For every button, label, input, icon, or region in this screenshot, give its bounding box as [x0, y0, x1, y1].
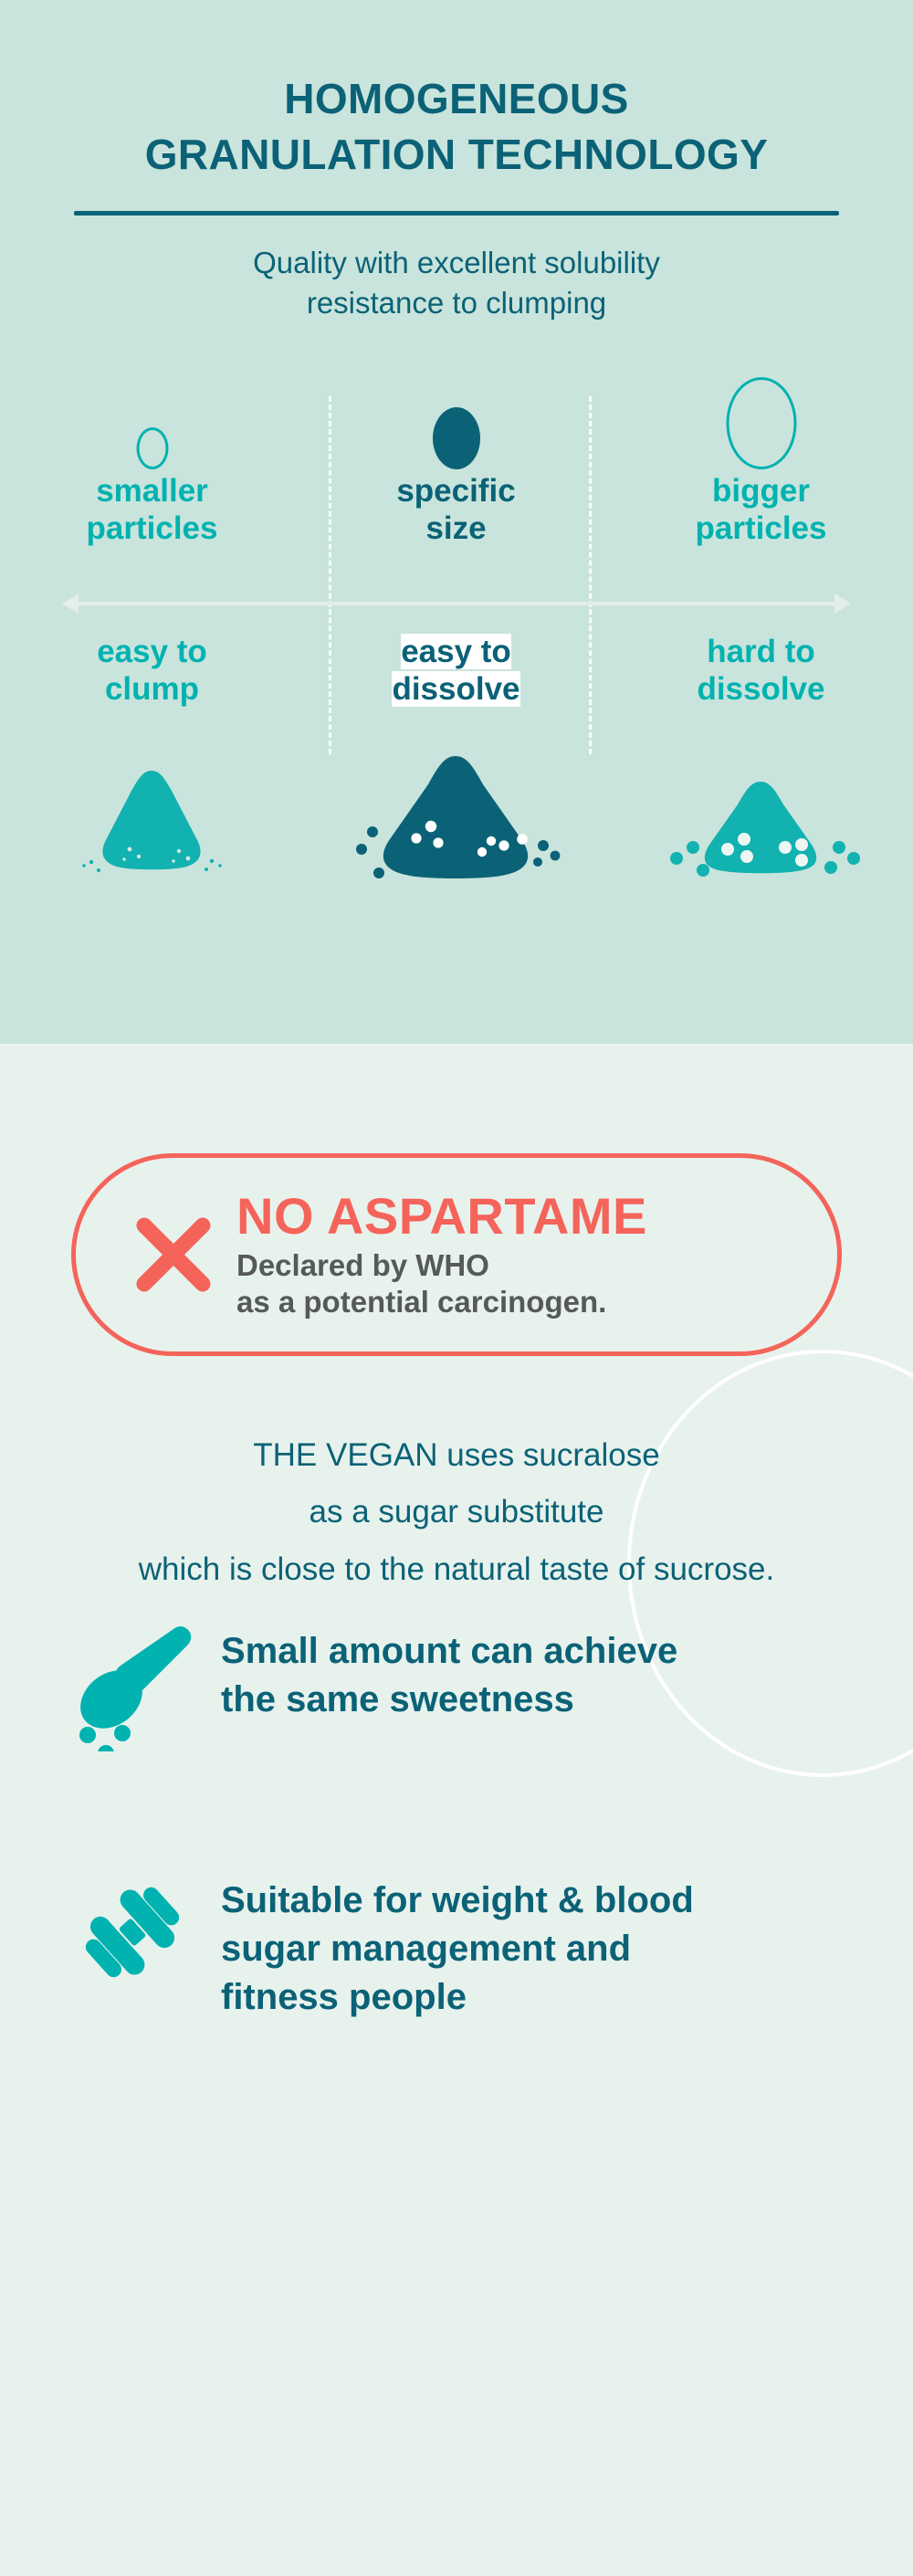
behaviour-line-1: easy to [401, 634, 511, 669]
arrow-shaft [75, 602, 838, 605]
sucralose-note-line-2: as a sugar substitute [0, 1484, 913, 1540]
page-title-line-1: HOMOGENEOUS [0, 71, 913, 127]
comparison-column-smaller: smaller particles [0, 371, 304, 547]
feature-text-line-2: sugar management and [221, 1925, 694, 1973]
feature-text-fitness: Suitable for weight & blood sugar manage… [201, 1864, 694, 2023]
subtitle-line-2: resistance to clumping [0, 283, 913, 323]
behaviour-line-1: easy to [0, 634, 304, 671]
particle-icon-slot [0, 371, 304, 473]
size-label-bigger: bigger particles [609, 473, 913, 547]
infographic-page: HOMOGENEOUS GRANULATION TECHNOLOGY Quali… [0, 0, 913, 2576]
behaviour-label-hard-dissolve: hard to dissolve [609, 634, 913, 708]
sucralose-note-line-1: THE VEGAN uses sucralose [0, 1427, 913, 1484]
badge-subtext-line-2: as a potential carcinogen. [236, 1284, 647, 1320]
subtitle-block: Quality with excellent solubility resist… [0, 243, 913, 323]
size-label-smaller: smaller particles [0, 473, 304, 547]
size-label-line-1: bigger [609, 473, 913, 510]
behaviour-label-clump: easy to clump [0, 634, 304, 708]
arrow-head-right [834, 594, 851, 614]
dumbbell-icon [64, 1864, 201, 2001]
badge-subtext-line-1: Declared by WHO [236, 1247, 647, 1284]
feature-item-sweetness: Small amount can achieve the same sweetn… [64, 1614, 867, 1751]
double-headed-arrow-icon [62, 588, 851, 619]
no-aspartame-badge: NO ASPARTAME Declared by WHO as a potent… [71, 1153, 842, 1356]
behaviour-line-2: dissolve [392, 671, 519, 707]
small-outline-ellipse-icon [136, 427, 168, 469]
subtitle-line-1: Quality with excellent solubility [0, 243, 913, 283]
spoon-with-granules-icon [64, 1614, 201, 1751]
feature-text-line-3: fitness people [221, 1973, 694, 2022]
feature-text-sweetness: Small amount can achieve the same sweetn… [201, 1614, 677, 1724]
behaviour-label-easy-dissolve: easy to dissolve [304, 634, 608, 708]
size-label-line-1: specific [304, 473, 608, 510]
sucralose-note-line-3: which is close to the natural taste of s… [0, 1541, 913, 1598]
feature-item-fitness: Suitable for weight & blood sugar manage… [64, 1864, 867, 2023]
cross-mark-icon [123, 1213, 224, 1297]
size-label-specific: specific size [304, 473, 608, 547]
comparison-column-bigger: bigger particles [609, 371, 913, 547]
size-label-line-2: particles [609, 510, 913, 548]
feature-text-line-1: Suitable for weight & blood [221, 1877, 694, 1925]
size-label-line-2: particles [0, 510, 304, 548]
size-label-line-2: size [304, 510, 608, 548]
large-outline-ellipse-icon [726, 377, 796, 469]
title-underline-rule [74, 211, 839, 216]
particle-icon-slot [609, 371, 913, 473]
powder-pile-small-icon [0, 754, 304, 882]
badge-text-block: NO ASPARTAME Declared by WHO as a potent… [224, 1189, 647, 1321]
behaviour-line-1: hard to [609, 634, 913, 671]
comparison-column-specific: specific size [304, 371, 608, 547]
feature-text-line-1: Small amount can achieve [221, 1627, 677, 1676]
particle-size-comparison: smaller particles specific size [0, 371, 913, 882]
badge-subtext: Declared by WHO as a potential carcinoge… [236, 1247, 647, 1321]
badge-title: NO ASPARTAME [236, 1189, 647, 1244]
feature-text-line-2: the same sweetness [221, 1676, 677, 1724]
powder-pile-coarse-icon [609, 754, 913, 882]
powder-pile-large-icon [304, 754, 608, 882]
particle-icon-slot [304, 371, 608, 473]
page-title-line-2: GRANULATION TECHNOLOGY [0, 127, 913, 183]
powder-pile-row [0, 754, 913, 882]
behaviour-line-2: clump [0, 671, 304, 709]
behaviour-line-2: dissolve [609, 671, 913, 709]
header-block: HOMOGENEOUS GRANULATION TECHNOLOGY [0, 0, 913, 216]
medium-filled-ellipse-icon [433, 407, 480, 469]
sucralose-note: THE VEGAN uses sucralose as a sugar subs… [0, 1427, 913, 1598]
granulation-technology-section: HOMOGENEOUS GRANULATION TECHNOLOGY Quali… [0, 0, 913, 1044]
size-label-line-1: smaller [0, 473, 304, 510]
sweetener-benefits-section: NO ASPARTAME Declared by WHO as a potent… [0, 1044, 913, 2576]
